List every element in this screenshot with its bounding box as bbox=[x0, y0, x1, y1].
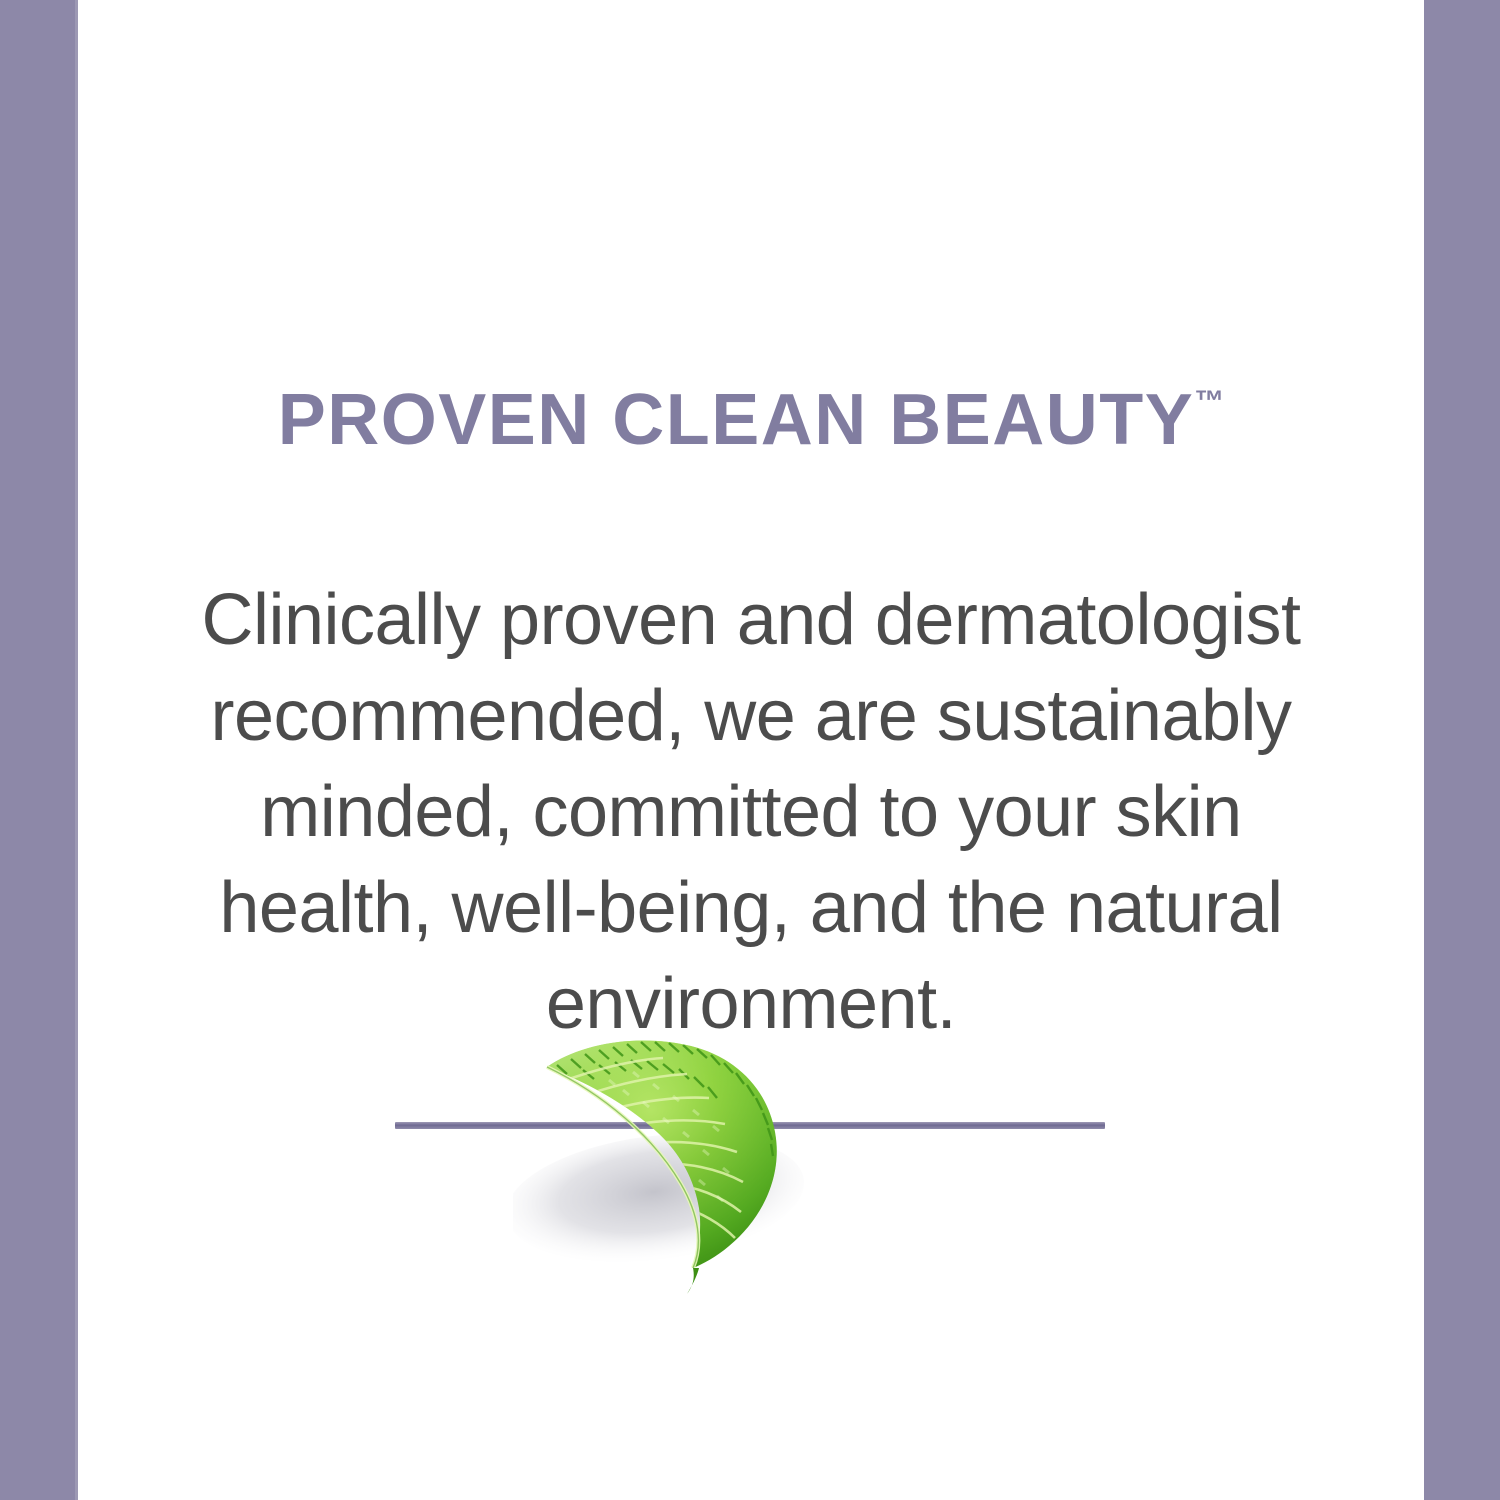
promo-card: PROVEN CLEAN BEAUTY™ Clinically proven a… bbox=[0, 0, 1500, 1500]
right-decorative-bar bbox=[1424, 0, 1500, 1500]
leaf-graphic bbox=[513, 1032, 833, 1302]
trademark-symbol: ™ bbox=[1194, 385, 1224, 418]
leaf-stem bbox=[687, 1268, 699, 1294]
body-paragraph: Clinically proven and dermatologist reco… bbox=[178, 572, 1324, 1052]
left-decorative-bar bbox=[0, 0, 75, 1500]
leaf-divider bbox=[78, 1010, 1424, 1340]
page-title: PROVEN CLEAN BEAUTY™ bbox=[78, 384, 1424, 456]
leaf-icon bbox=[513, 1032, 833, 1302]
content-area: PROVEN CLEAN BEAUTY™ Clinically proven a… bbox=[78, 0, 1424, 1500]
headline-text: PROVEN CLEAN BEAUTY bbox=[278, 380, 1195, 460]
